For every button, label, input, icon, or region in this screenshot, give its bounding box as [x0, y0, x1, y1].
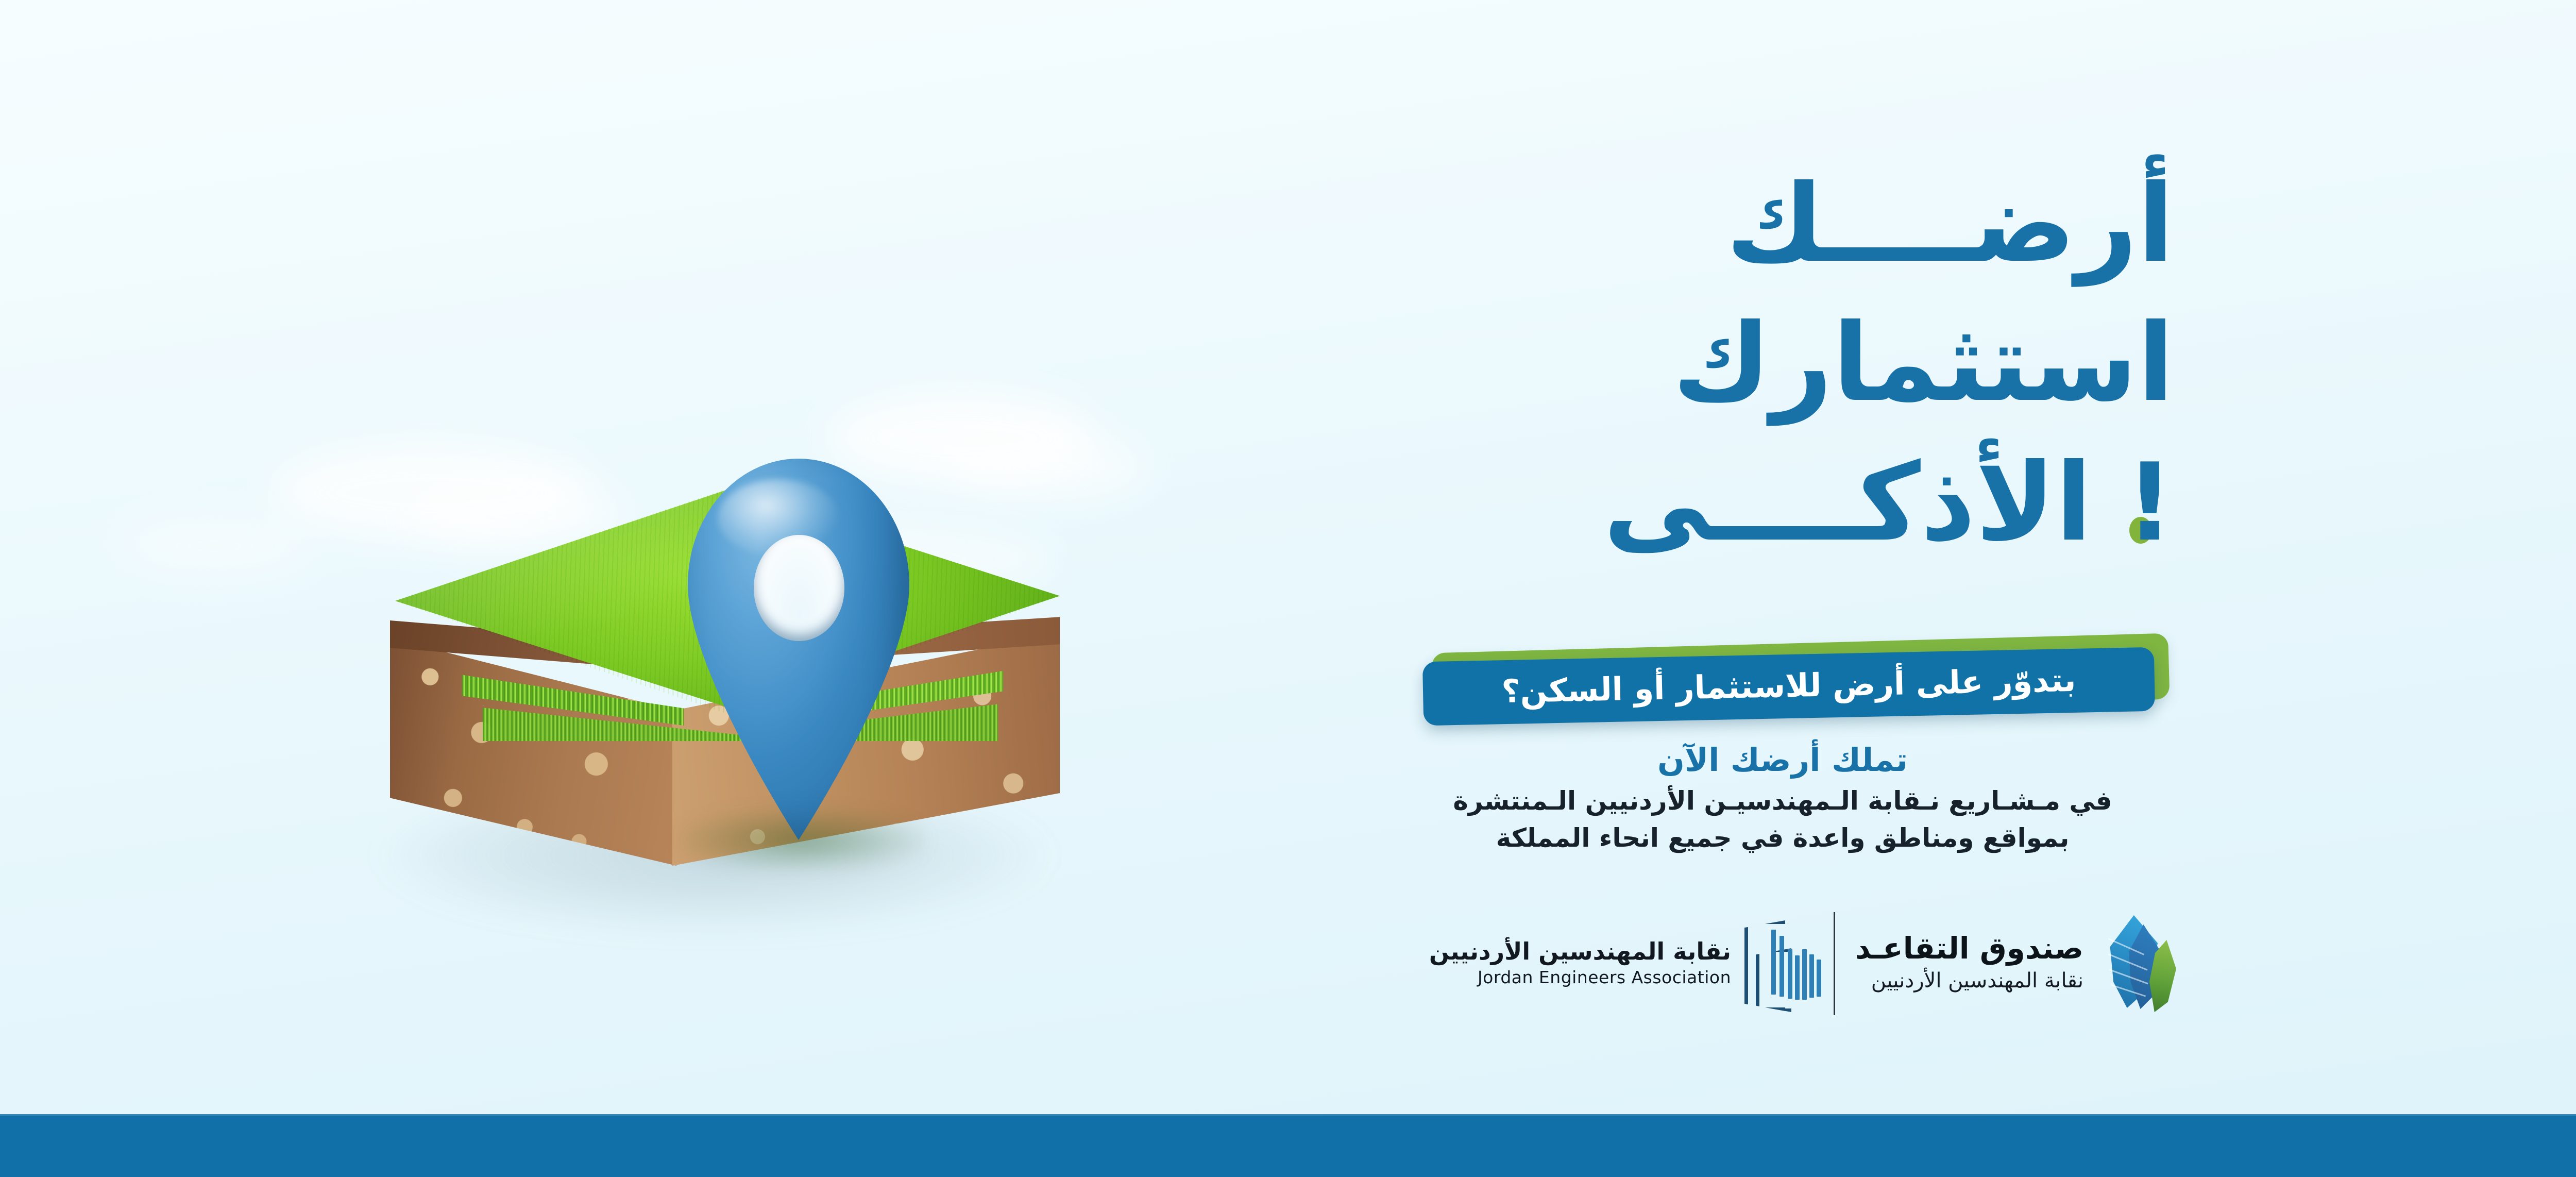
jea-building-mark-icon [1744, 918, 1822, 1006]
jea-english-name: Jordan Engineers Association [1478, 967, 1731, 987]
jea-bar [1809, 954, 1814, 998]
fund-wordmark: صندوق التقاعـد نقابة المهندسين الأردنيين [1855, 931, 2083, 993]
headline-line-2: استثمارك [1370, 294, 2174, 433]
jea-arabic-name: نقابة المهندسين الأردنيين [1429, 937, 1731, 965]
headline-line-3: ! الأذكــــى [1370, 433, 2174, 573]
banner-canvas: أرضــــك استثمارك ! الأذكــــى بتدوّر عل… [0, 0, 2576, 1177]
fund-secondary-name: نقابة المهندسين الأردنيين [1871, 969, 2083, 993]
banner-text: بتدوّر على أرض للاستثمار أو السكن؟ [1501, 661, 2076, 710]
jea-bar [1771, 930, 1776, 995]
land-illustration [282, 170, 1158, 995]
own-now-heading: تملك أرضك الآن [1396, 741, 2169, 779]
soil-block [390, 459, 1060, 922]
jea-bar [1817, 960, 1821, 997]
question-banner[interactable]: بتدوّر على أرض للاستثمار أو السكن؟ [1396, 643, 2169, 731]
headline-line-1: أرضــــك [1370, 155, 2174, 294]
body-line-2: بمواقع ومناطق واعدة في جميع انحاء المملك… [1396, 819, 2169, 856]
headline: أرضــــك استثمارك ! الأذكــــى [1370, 155, 2174, 573]
logo-jea: نقابة المهندسين الأردنيين Jordan Enginee… [1429, 918, 1822, 1006]
jea-wordmark: نقابة المهندسين الأردنيين Jordan Enginee… [1429, 937, 1731, 987]
logo-retirement-fund: صندوق التقاعـد نقابة المهندسين الأردنيين [1855, 911, 2179, 1012]
map-pin-icon [688, 459, 909, 840]
logo-divider [1834, 912, 1835, 1015]
feather-leaf-mark-icon [2097, 911, 2179, 1012]
body-copy: في مـشـاريع نـقابة الـمهندسيـن الأردنيين… [1396, 782, 2169, 856]
jea-bar [1795, 955, 1800, 1000]
pin-hole [754, 535, 844, 641]
logo-row: نقابة المهندسين الأردنيين Jordan Enginee… [1391, 903, 2179, 1021]
exclamation-mark: ! [2129, 441, 2174, 565]
fund-primary-name: صندوق التقاعـد [1855, 931, 2083, 966]
bottom-bar [0, 1114, 2576, 1177]
body-line-1: في مـشـاريع نـقابة الـمهندسيـن الأردنيين… [1396, 782, 2169, 819]
jea-bar [1780, 936, 1784, 997]
jea-bar [1788, 949, 1792, 999]
jea-bar [1802, 949, 1807, 1000]
